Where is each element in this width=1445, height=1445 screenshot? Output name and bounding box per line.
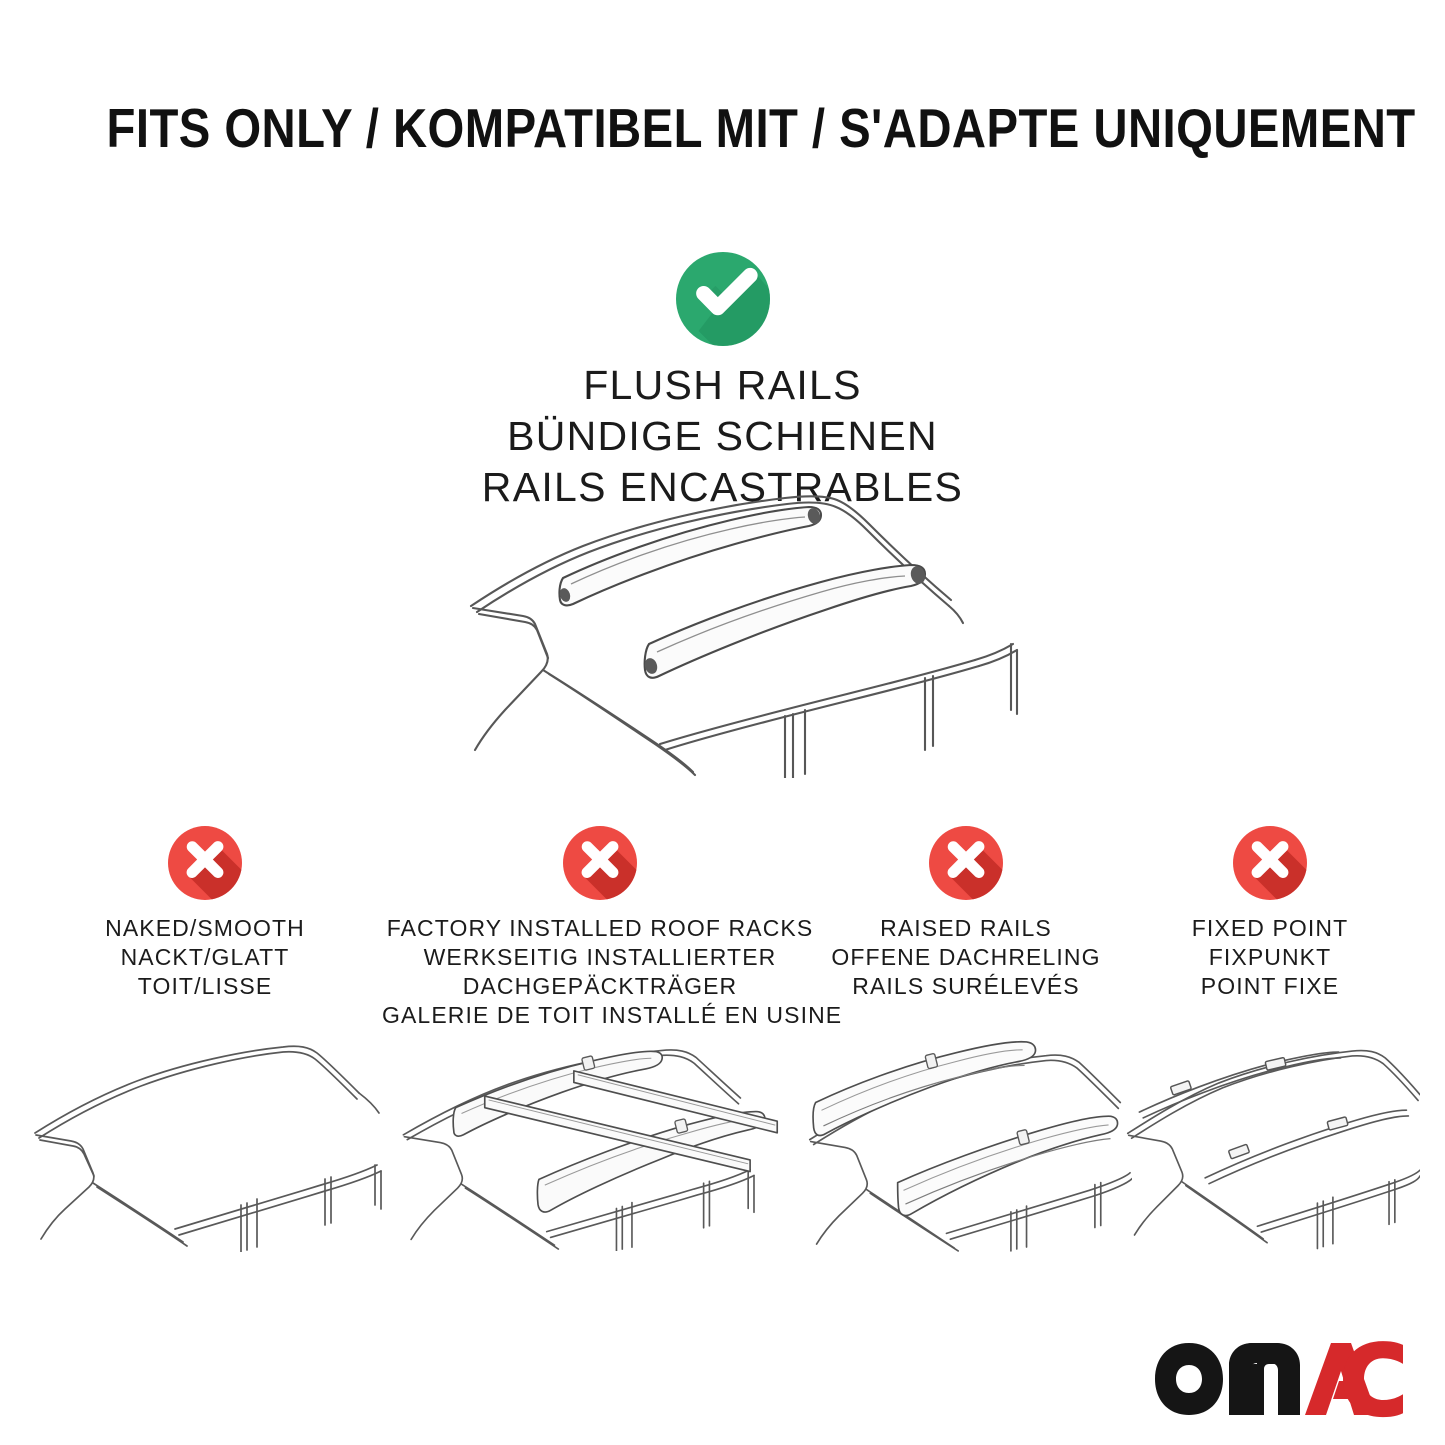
incompatible-label-line-3: TOIT/LISSE <box>20 972 390 1001</box>
incompatible-label-line-4: GALERIE DE TOIT INSTALLÉ EN USINE <box>382 1001 818 1030</box>
incompatible-label-line-3: RAILS SURÉLEVÉS <box>800 972 1132 1001</box>
cross-icon <box>929 826 1003 900</box>
omac-logo <box>1153 1341 1403 1423</box>
check-icon <box>676 252 770 346</box>
compatible-label-line-2: BÜNDIGE SCHIENEN <box>0 411 1445 462</box>
incompatible-item-naked-smooth: NAKED/SMOOTH NACKT/GLATT TOIT/LISSE <box>20 826 390 1252</box>
incompatible-label-line-2: FIXPUNKT <box>1120 943 1420 972</box>
compatible-label-line-1: FLUSH RAILS <box>0 360 1445 411</box>
incompatible-label-line-3: POINT FIXE <box>1120 972 1420 1001</box>
fixed-point-roof-illustration <box>1120 1037 1420 1252</box>
incompatible-label-line-1: FACTORY INSTALLED ROOF RACKS <box>382 914 818 943</box>
cross-badge <box>929 826 1003 900</box>
cross-badge <box>1233 826 1307 900</box>
naked-smooth-roof-illustration <box>20 1037 390 1252</box>
incompatible-label-line-1: FIXED POINT <box>1120 914 1420 943</box>
cross-badge <box>563 826 637 900</box>
raised-rails-illustration <box>800 1037 1132 1252</box>
incompatible-item-raised-rails: RAISED RAILS OFFENE DACHRELING RAILS SUR… <box>800 826 1132 1252</box>
incompatible-item-fixed-point: FIXED POINT FIXPUNKT POINT FIXE <box>1120 826 1420 1252</box>
incompatible-label-group: FIXED POINT FIXPUNKT POINT FIXE <box>1120 914 1420 1001</box>
logo-letter-o <box>1155 1343 1223 1415</box>
cross-icon <box>563 826 637 900</box>
incompatible-label-group: RAISED RAILS OFFENE DACHRELING RAILS SUR… <box>800 914 1132 1001</box>
check-badge <box>676 252 770 346</box>
incompatible-label-line-2: OFFENE DACHRELING <box>800 943 1132 972</box>
incompatible-label-group: NAKED/SMOOTH NACKT/GLATT TOIT/LISSE <box>20 914 390 1001</box>
incompatible-label-line-1: RAISED RAILS <box>800 914 1132 943</box>
cross-badge <box>168 826 242 900</box>
factory-roof-racks-illustration <box>382 1036 818 1251</box>
compatible-section: FLUSH RAILS BÜNDIGE SCHIENEN RAILS ENCAS… <box>0 252 1445 512</box>
incompatible-label-line-2: WERKSEITIG INSTALLIERTER <box>382 943 818 972</box>
incompatible-section: NAKED/SMOOTH NACKT/GLATT TOIT/LISSE <box>0 826 1445 1256</box>
incompatible-label-line-2: NACKT/GLATT <box>20 943 390 972</box>
incompatible-label-group: FACTORY INSTALLED ROOF RACKS WERKSEITIG … <box>382 914 818 1030</box>
incompatible-label-line-3: DACHGEPÄCKTRÄGER <box>382 972 818 1001</box>
page-title: FITS ONLY / KOMPATIBEL MIT / S'ADAPTE UN… <box>0 96 1445 160</box>
cross-icon <box>168 826 242 900</box>
flush-rails-illustration <box>455 478 1035 778</box>
compatibility-infographic: FITS ONLY / KOMPATIBEL MIT / S'ADAPTE UN… <box>0 0 1445 1445</box>
incompatible-item-factory-roof-racks: FACTORY INSTALLED ROOF RACKS WERKSEITIG … <box>382 826 818 1251</box>
incompatible-label-line-1: NAKED/SMOOTH <box>20 914 390 943</box>
cross-icon <box>1233 826 1307 900</box>
page-title-text: FITS ONLY / KOMPATIBEL MIT / S'ADAPTE UN… <box>107 96 1416 160</box>
